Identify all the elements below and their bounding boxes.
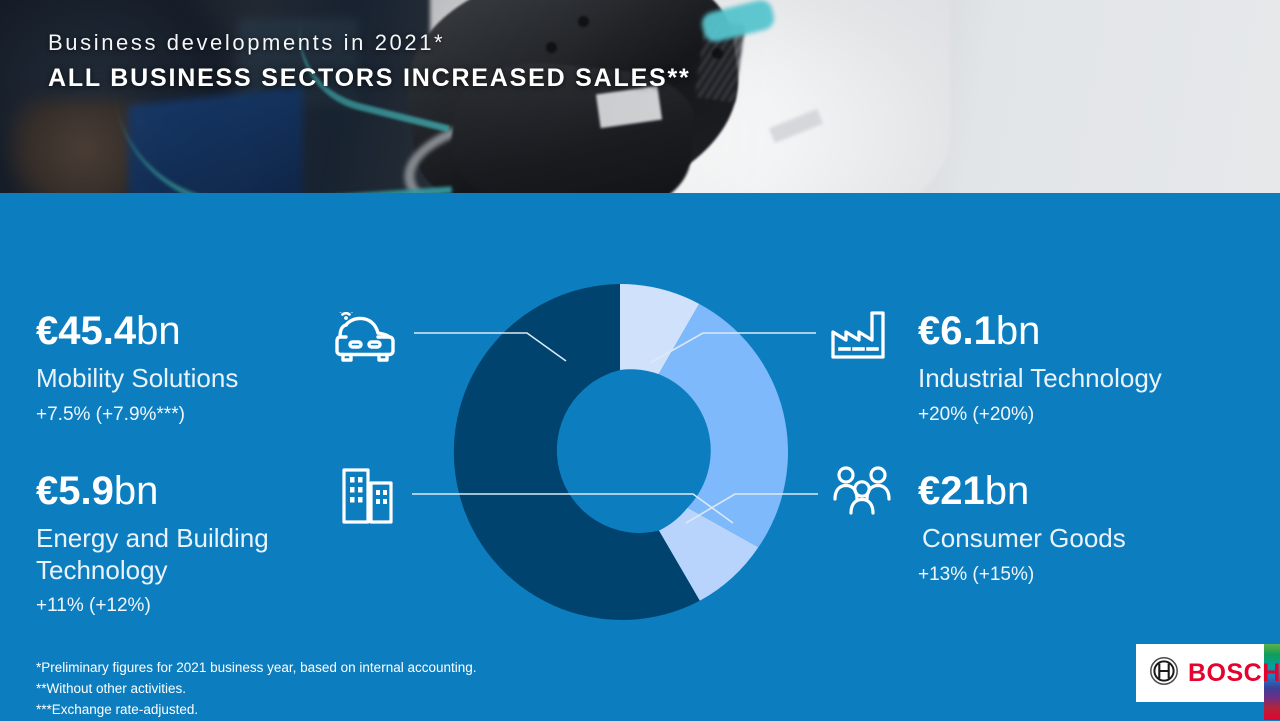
header-text-group: Business developments in 2021* ALL BUSIN… [48,30,691,93]
bosch-logo: BOSCH [1136,644,1264,702]
sector-name-energy: Energy and Building Technology [36,523,366,586]
footnote-3: ***Exchange rate-adjusted. [36,700,477,721]
footnote-1: *Preliminary figures for 2021 business y… [36,658,477,679]
sector-change-industrial: +20% (+20%) [918,404,1258,426]
donut-svg [452,284,788,620]
sales-donut-chart [452,284,788,620]
sector-value-number: €45.4 [36,309,136,353]
sector-value-unit: bn [136,309,181,353]
sector-change-mobility: +7.5% (+7.9%***) [36,404,366,426]
bosch-wordmark: BOSCH [1188,661,1280,686]
buildings-icon [342,468,396,529]
connected-car-icon [332,312,398,371]
sector-value-number: €21 [918,469,985,513]
sector-change-energy: +11% (+12%) [36,595,366,617]
infographic-body: €45.4bn Mobility Solutions +7.5% (+7.9%*… [0,193,1280,720]
sector-value-number: €6.1 [918,309,996,353]
sector-value-unit: bn [985,469,1030,513]
header-eyebrow: Business developments in 2021* [48,30,691,56]
photo-dark-overlay [0,0,1280,193]
sector-value-industrial: €6.1bn [918,311,1258,351]
page-title: ALL BUSINESS SECTORS INCREASED SALES** [48,64,691,93]
sector-value-consumer: €21bn [918,471,1258,511]
people-group-icon [832,466,894,521]
header-photo-banner: Business developments in 2021* ALL BUSIN… [0,0,1280,193]
sector-value-unit: bn [114,469,159,513]
sector-value-unit: bn [996,309,1041,353]
sector-value-mobility: €45.4bn [36,311,366,351]
sector-change-consumer: +13% (+15%) [918,564,1258,586]
bosch-armature-icon [1149,656,1179,691]
sector-name-industrial: Industrial Technology [918,363,1258,395]
sector-name-mobility: Mobility Solutions [36,363,366,395]
footnotes: *Preliminary figures for 2021 business y… [36,658,477,721]
sector-value-number: €5.9 [36,469,114,513]
footnote-2: **Without other activities. [36,679,477,700]
sector-block-energy: €5.9bn Energy and Building Technology +1… [36,471,366,617]
sector-value-energy: €5.9bn [36,471,366,511]
sector-block-consumer: €21bn Consumer Goods +13% (+15%) [918,471,1258,586]
sector-block-mobility: €45.4bn Mobility Solutions +7.5% (+7.9%*… [36,311,366,426]
factory-icon [830,310,892,365]
sector-name-consumer: Consumer Goods [922,523,1258,555]
sector-block-industrial: €6.1bn Industrial Technology +20% (+20%) [918,311,1258,426]
